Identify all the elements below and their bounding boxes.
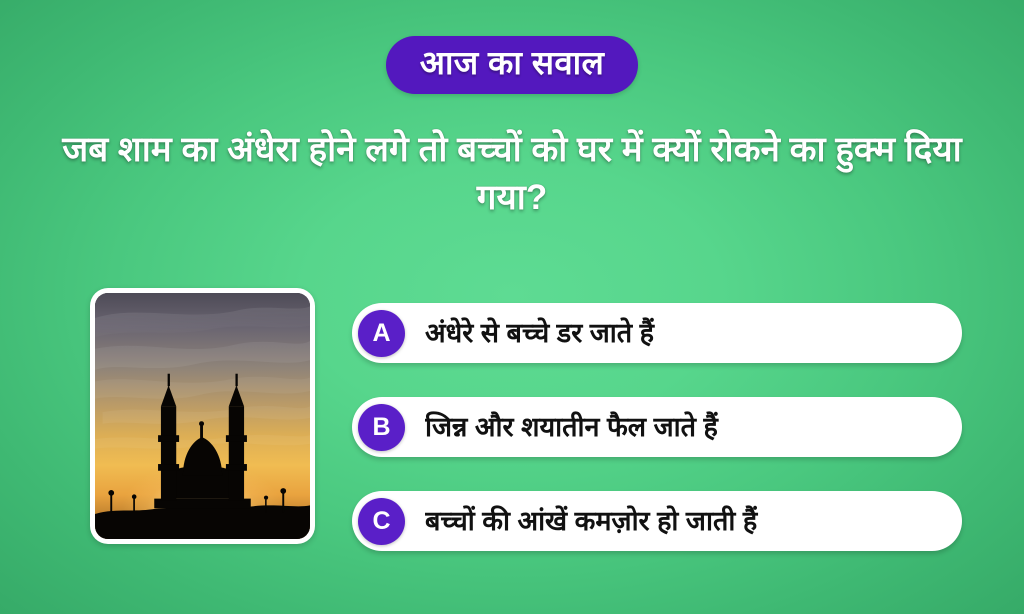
option-c-letter-badge: C: [358, 498, 405, 545]
mosque-sunset-photo: [95, 293, 310, 539]
option-a-text: अंधेरे से बच्चे डर जाते हैं: [425, 317, 962, 349]
quiz-body: A अंधेरे से बच्चे डर जाते हैं B जिन्न और…: [0, 288, 1024, 558]
option-b-letter-badge: B: [358, 404, 405, 451]
option-b-text: जिन्न और शयातीन फैल जाते हैं: [425, 411, 962, 443]
header-badge-row: आज का सवाल: [0, 36, 1024, 94]
thumbnail-frame: [90, 288, 315, 544]
option-c[interactable]: C बच्चों की आंखें कमज़ोर हो जाती हैं: [352, 491, 962, 551]
option-b[interactable]: B जिन्न और शयातीन फैल जाते हैं: [352, 397, 962, 457]
today-question-badge: आज का सवाल: [386, 36, 638, 94]
quiz-card: आज का सवाल जब शाम का अंधेरा होने लगे तो …: [0, 0, 1024, 614]
option-a[interactable]: A अंधेरे से बच्चे डर जाते हैं: [352, 303, 962, 363]
mosque-sunset-icon: [95, 293, 310, 539]
option-c-text: बच्चों की आंखें कमज़ोर हो जाती हैं: [425, 505, 962, 537]
options-list: A अंधेरे से बच्चे डर जाते हैं B जिन्न और…: [352, 303, 962, 551]
option-a-letter-badge: A: [358, 310, 405, 357]
question-text: जब शाम का अंधेरा होने लगे तो बच्चों को घ…: [62, 126, 962, 223]
